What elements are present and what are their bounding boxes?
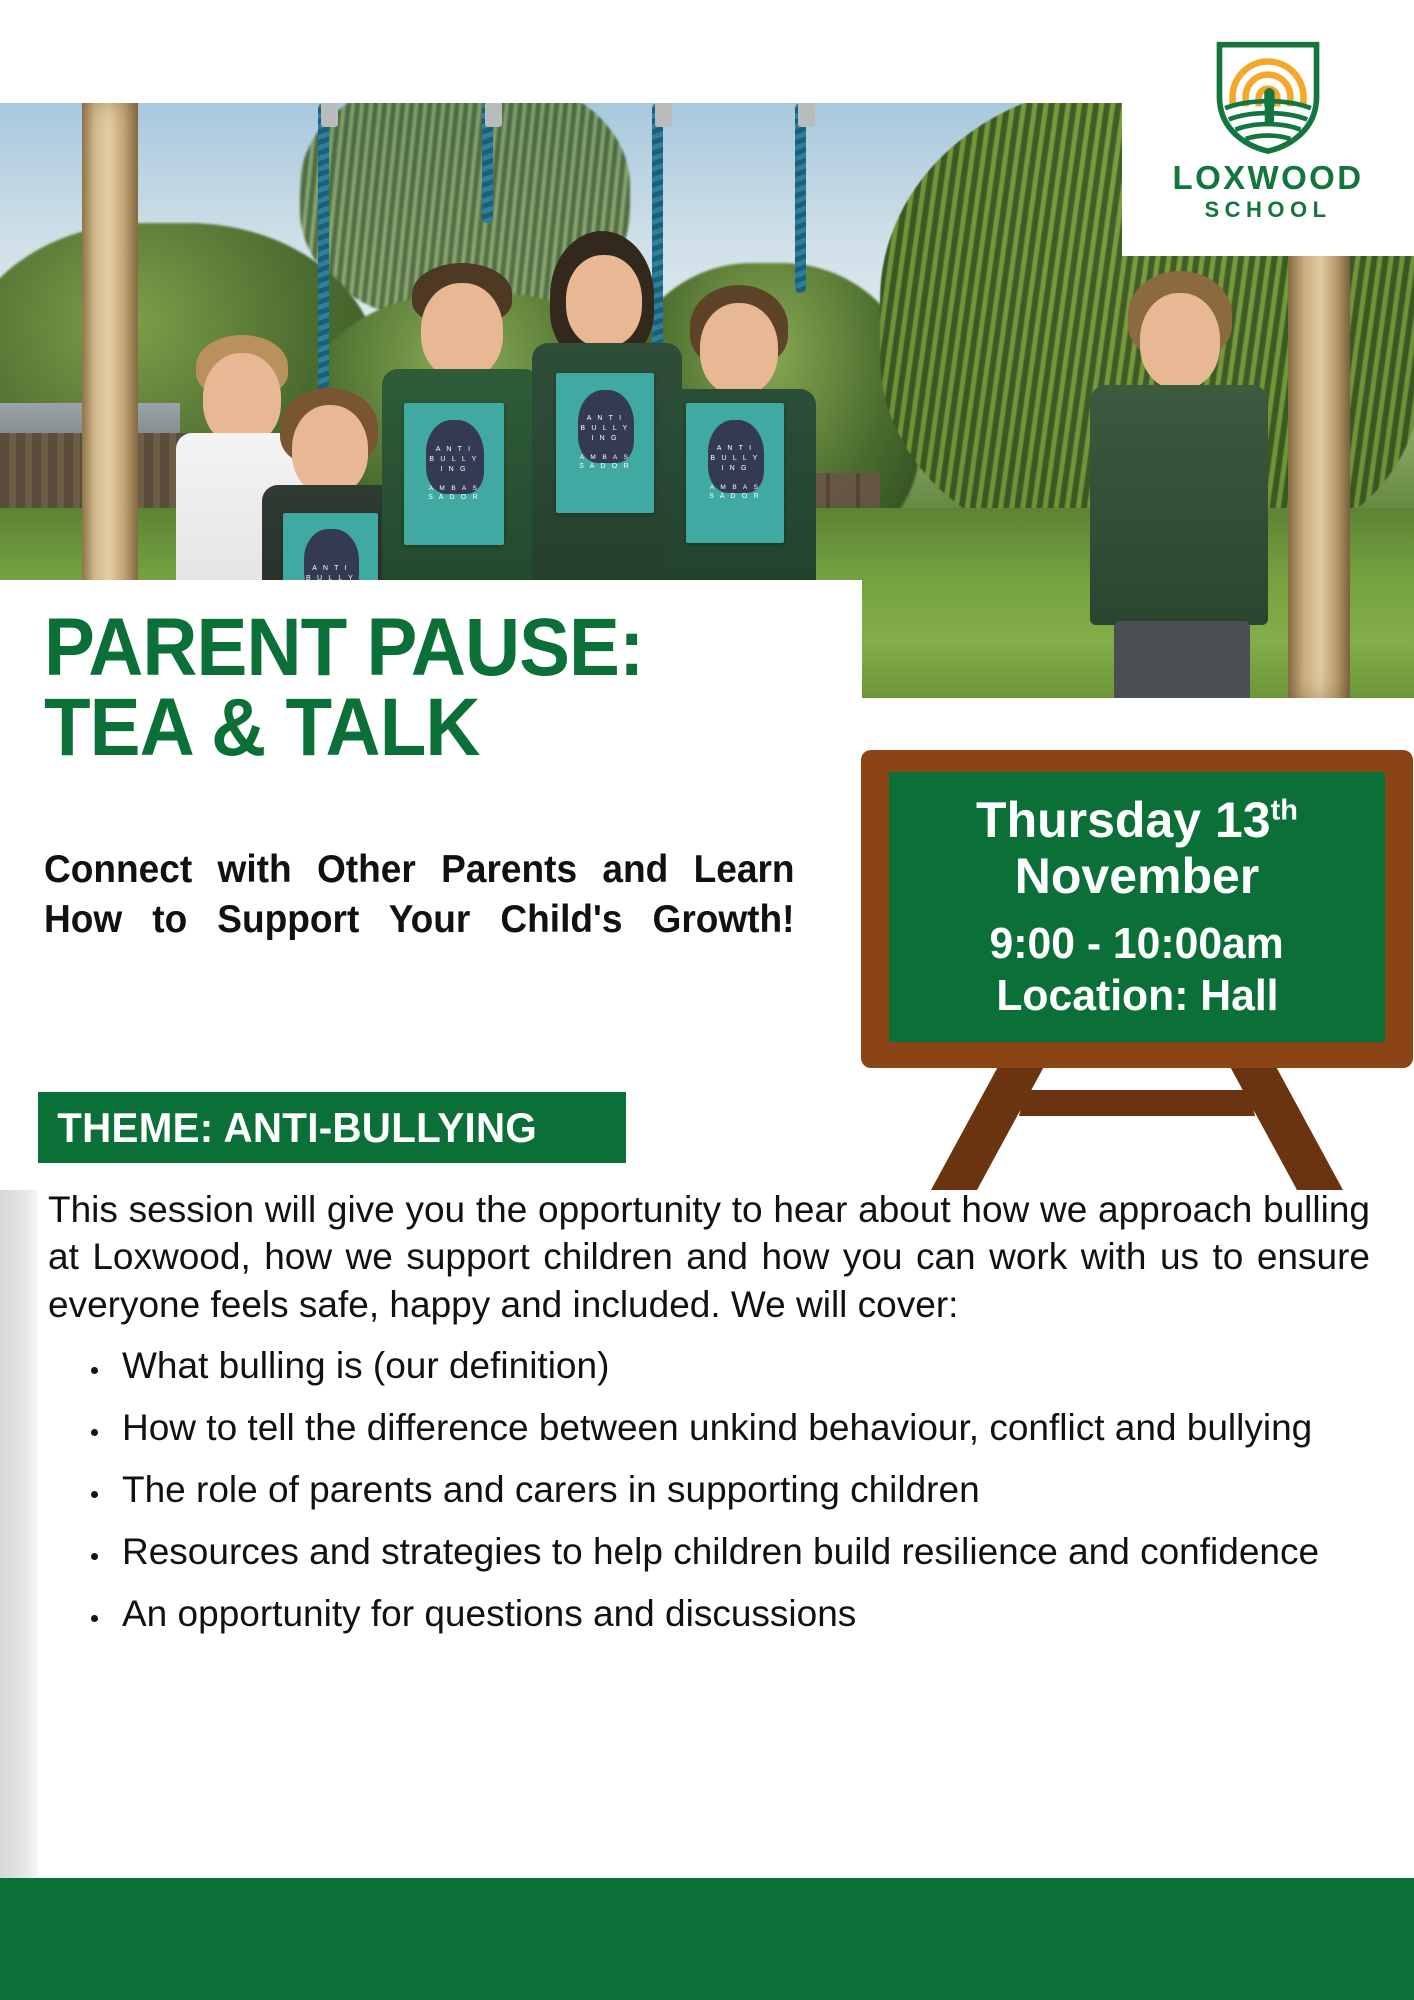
event-date-day: Thursday 13 (976, 792, 1271, 848)
swing-rope-cap-4 (798, 103, 815, 127)
event-date: Thursday 13th November (976, 792, 1298, 904)
session-topics-list: What bulling is (our definition) How to … (48, 1342, 1370, 1638)
card-text-line4: A M B A S (428, 484, 480, 493)
card-text-line5: S A D O R (709, 492, 761, 502)
anti-bullying-card-4: A N T I B U L L Y I N G A M B A S S A D … (686, 403, 784, 543)
card-text-line1: A N T I (428, 445, 480, 455)
chalkboard-frame: Thursday 13th November 9:00 - 10:00am Lo… (861, 750, 1413, 1068)
card-text-line4: A M B A S (709, 483, 761, 492)
intro-paragraph: This session will give you the opportuni… (48, 1186, 1370, 1328)
card-text-line5: S A D O R (579, 462, 631, 472)
theme-banner-label: THEME: ANTI-BULLYING (38, 1104, 537, 1152)
event-time: 9:00 - 10:00am (990, 918, 1284, 970)
title-line-2: TEA & TALK (44, 688, 788, 768)
chalkboard: Thursday 13th November 9:00 - 10:00am Lo… (889, 772, 1385, 1042)
card-text-line1: A N T I (306, 564, 355, 574)
card-text-line1: A N T I (709, 444, 761, 454)
theme-banner: THEME: ANTI-BULLYING (38, 1092, 626, 1163)
swing-rope-1 (318, 103, 329, 433)
card-text-line2: B U L L Y (579, 424, 631, 434)
card-text-line4: A M B A S (579, 453, 631, 462)
card-text-line1: A N T I (579, 414, 631, 424)
card-text-line3: I N G (709, 464, 761, 474)
shield-rainbow-logo-icon (1212, 39, 1324, 155)
event-details-easel: Thursday 13th November 9:00 - 10:00am Lo… (857, 750, 1414, 1190)
swing-rope-cap-3 (655, 103, 672, 127)
list-item: How to tell the difference between unkin… (112, 1404, 1370, 1452)
logo-subtext: SCHOOL (1204, 199, 1331, 221)
anti-bullying-card-2: A N T I B U L L Y I N G A M B A S S A D … (404, 403, 504, 545)
left-edge-shade (0, 1178, 38, 1878)
list-item: Resources and strategies to help childre… (112, 1528, 1370, 1576)
card-text-line3: I N G (579, 434, 631, 444)
swing-rope-cap-2 (485, 103, 502, 127)
card-text-line5: S A D O R (428, 493, 480, 503)
logo-wordmark: LOXWOOD (1173, 161, 1364, 194)
title-line-1: PARENT PAUSE: (44, 608, 788, 688)
list-item: The role of parents and carers in suppor… (112, 1466, 1370, 1514)
footer-bar (0, 1878, 1414, 2000)
school-logo: LOXWOOD SCHOOL (1122, 25, 1414, 256)
event-month: November (976, 848, 1298, 904)
list-item: An opportunity for questions and discuss… (112, 1590, 1370, 1638)
card-text-line2: B U L L Y (709, 454, 761, 464)
body-content: This session will give you the opportuni… (48, 1186, 1370, 1653)
event-location: Location: Hall (996, 970, 1278, 1022)
swing-rope-4 (795, 103, 806, 293)
subtitle: Connect with Other Parents and Learn How… (44, 845, 795, 995)
card-text-line3: I N G (428, 465, 480, 475)
card-text-line2: B U L L Y (428, 455, 480, 465)
list-item: What bulling is (our definition) (112, 1342, 1370, 1390)
page-title: PARENT PAUSE: TEA & TALK (44, 608, 788, 767)
anti-bullying-card-3: A N T I B U L L Y I N G A M B A S S A D … (556, 373, 654, 513)
easel-legs-icon (857, 1050, 1414, 1190)
poster-page: A N T I B U L L Y I N G A N T I B U L L … (0, 0, 1414, 2000)
swing-rope-cap-1 (321, 103, 338, 127)
event-date-ordinal: th (1271, 794, 1298, 826)
